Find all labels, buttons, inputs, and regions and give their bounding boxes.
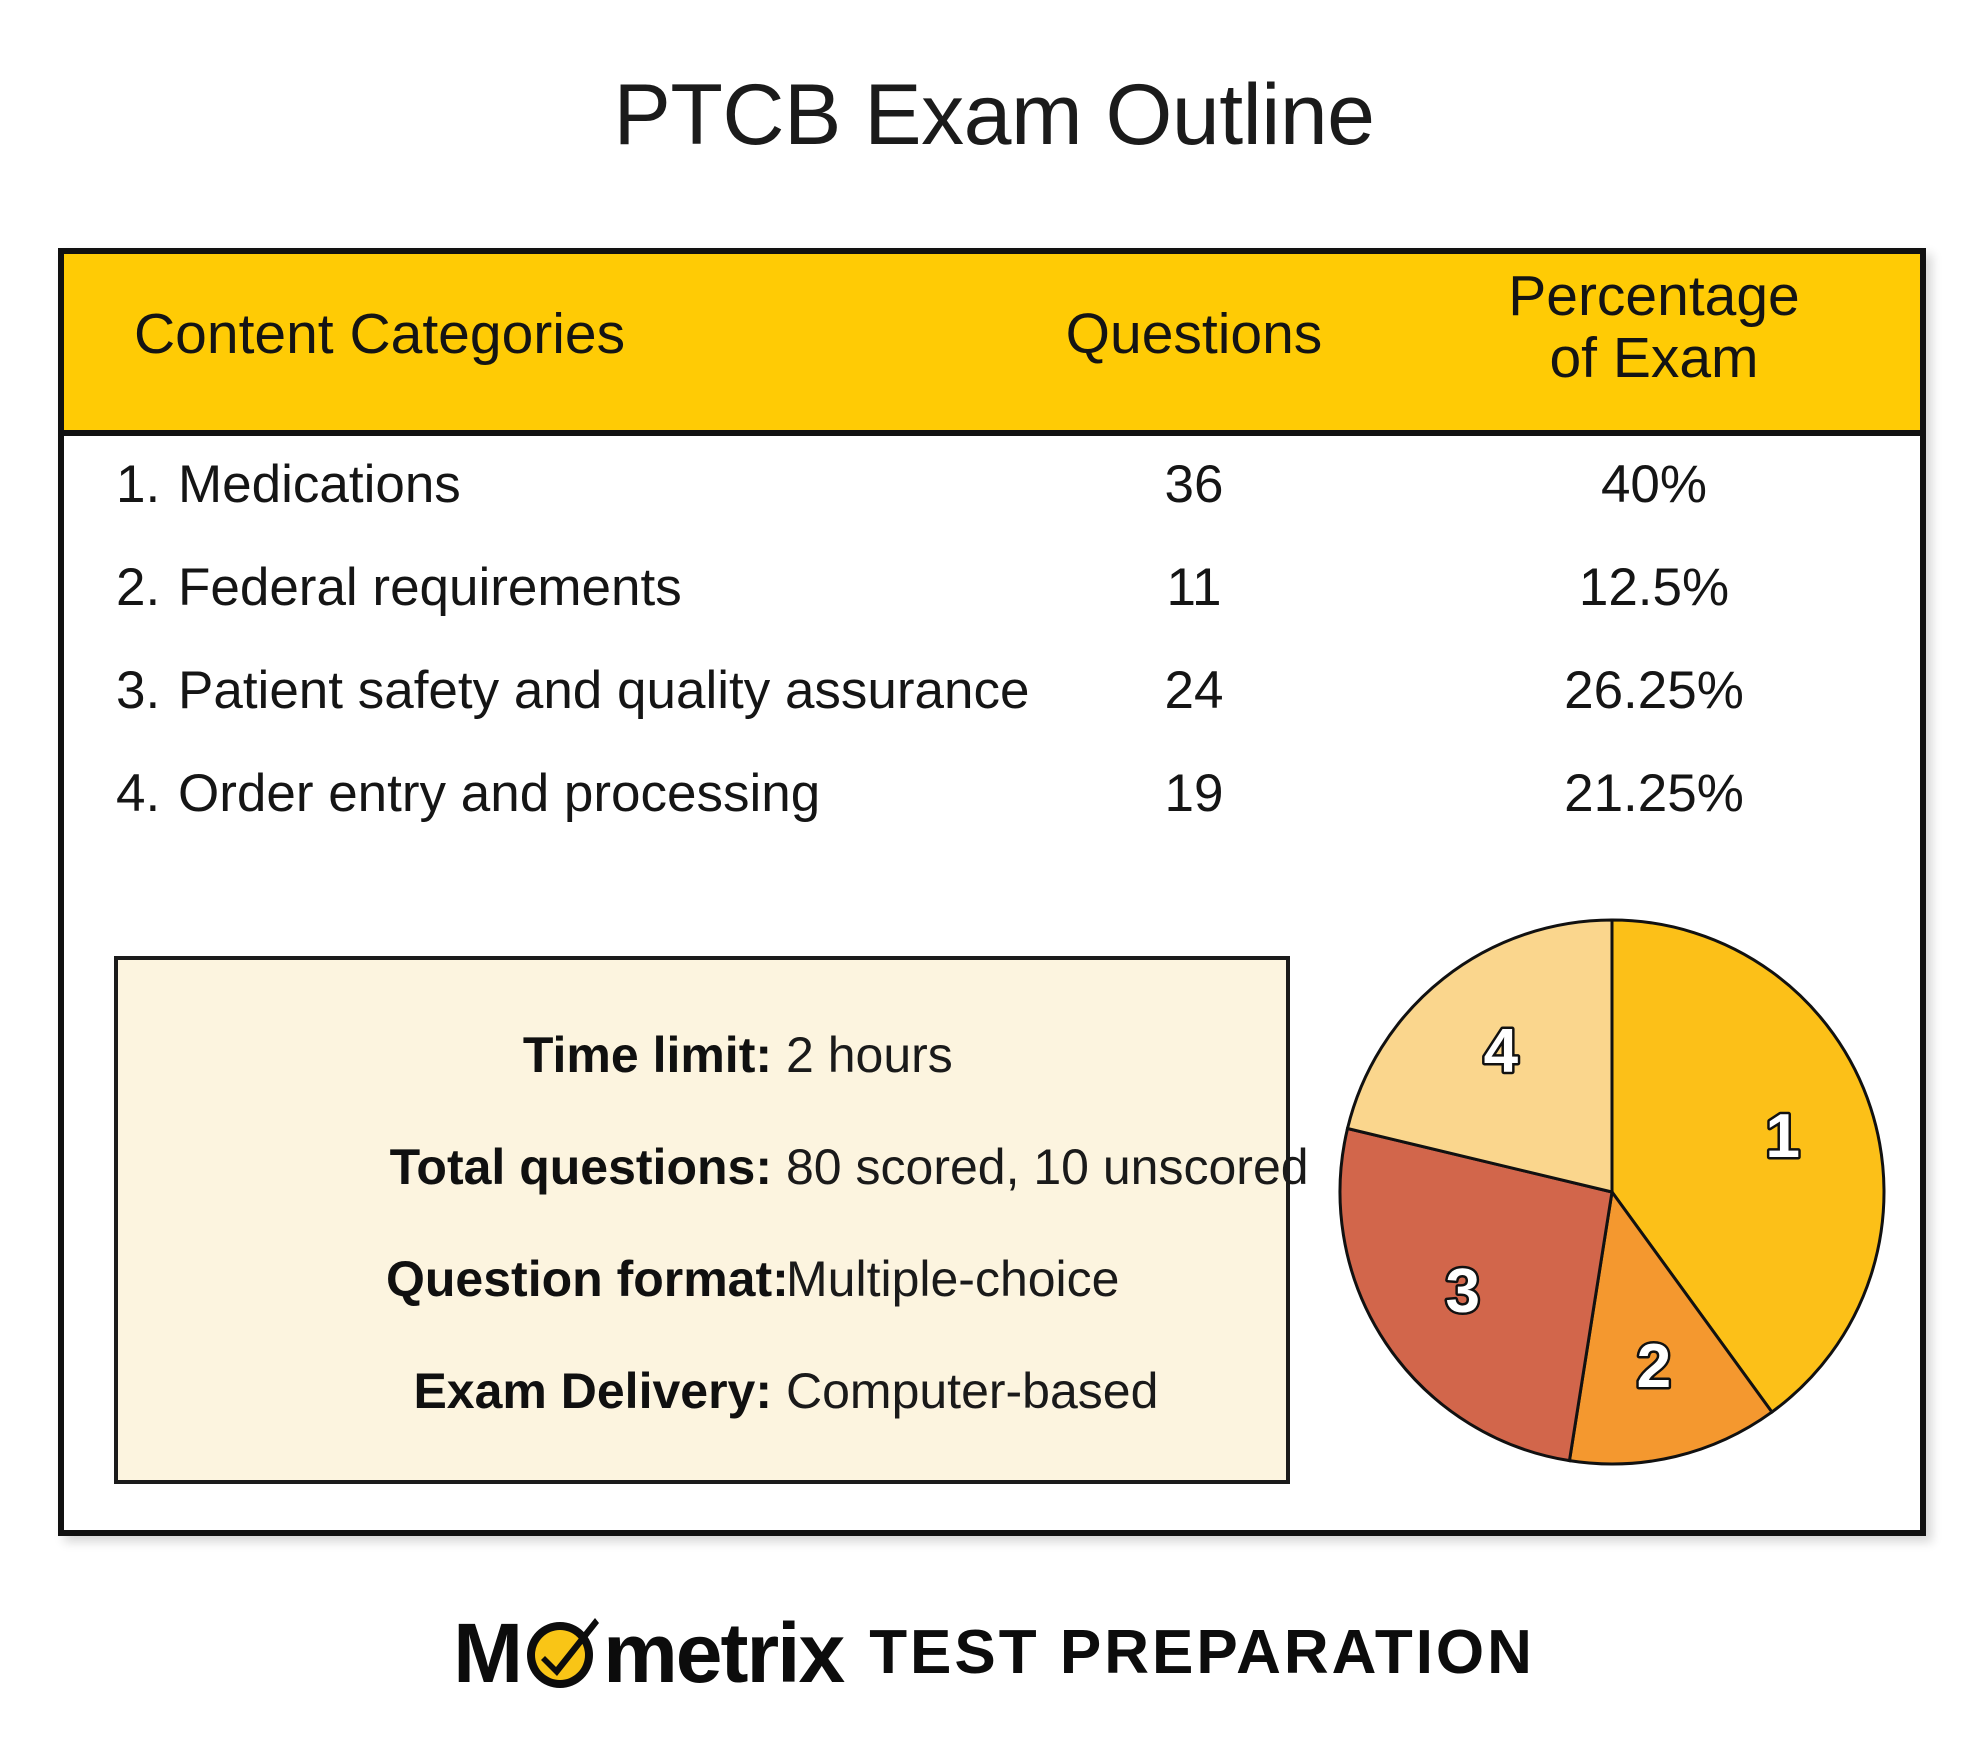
brand-part1: M bbox=[453, 1611, 521, 1695]
row-index: 2. bbox=[116, 561, 178, 614]
row-percentage: 21.25% bbox=[1444, 767, 1864, 820]
row-questions: 36 bbox=[1014, 458, 1374, 511]
column-header-percentage-of-exam: Percentage of Exam bbox=[1444, 266, 1864, 389]
row-label: 1.Medications bbox=[116, 458, 461, 511]
row-percentage: 12.5% bbox=[1444, 561, 1864, 614]
column-header-content-categories: Content Categories bbox=[134, 304, 784, 366]
column-header-percentage-line1: Percentage bbox=[1444, 266, 1864, 328]
detail-row-total-questions: Total questions:80 scored, 10 unscored bbox=[118, 1142, 1246, 1192]
pie-slice-label: 4 bbox=[1484, 1017, 1519, 1086]
pie-slice-label: 2 bbox=[1637, 1332, 1671, 1401]
detail-key: Exam Delivery: bbox=[386, 1366, 786, 1416]
brand-tagline: TEST PREPARATION bbox=[869, 1622, 1535, 1684]
table-body: 1.Medications 36 40% 2.Federal requireme… bbox=[64, 436, 1920, 848]
table-row: 1.Medications 36 40% bbox=[64, 436, 1920, 539]
detail-value: Multiple-choice bbox=[786, 1251, 1119, 1307]
column-header-questions: Questions bbox=[1014, 304, 1374, 366]
table-row: 3.Patient safety and quality assurance 2… bbox=[64, 642, 1920, 745]
pie-chart-svg: 1234 bbox=[1332, 912, 1892, 1472]
row-questions: 24 bbox=[1014, 664, 1374, 717]
row-label: 3.Patient safety and quality assurance bbox=[116, 664, 1029, 717]
row-index: 4. bbox=[116, 767, 178, 820]
detail-row-question-format: Question format:Multiple-choice bbox=[118, 1254, 1246, 1304]
row-label: 4.Order entry and processing bbox=[116, 767, 820, 820]
row-questions: 19 bbox=[1014, 767, 1374, 820]
page-title: PTCB Exam Outline bbox=[0, 72, 1988, 158]
brand-part2: metrix bbox=[603, 1611, 843, 1695]
exam-percentage-pie-chart: 1234 bbox=[1332, 912, 1892, 1472]
row-label-text: Patient safety and quality assurance bbox=[178, 661, 1029, 720]
detail-key: Total questions: bbox=[386, 1142, 786, 1192]
detail-key: Question format: bbox=[386, 1254, 786, 1304]
exam-outline-card: Content Categories Questions Percentage … bbox=[58, 248, 1926, 1536]
exam-details-box: Time limit:2 hours Total questions:80 sc… bbox=[114, 956, 1290, 1484]
detail-value: Computer-based bbox=[786, 1363, 1158, 1419]
row-index: 1. bbox=[116, 458, 178, 511]
detail-value: 2 hours bbox=[786, 1027, 953, 1083]
detail-row-time-limit: Time limit:2 hours bbox=[118, 1030, 1246, 1080]
row-percentage: 40% bbox=[1444, 458, 1864, 511]
pie-slice-label: 1 bbox=[1765, 1102, 1799, 1171]
row-label: 2.Federal requirements bbox=[116, 561, 682, 614]
row-label-text: Order entry and processing bbox=[178, 764, 820, 823]
row-questions: 11 bbox=[1014, 561, 1374, 614]
row-label-text: Medications bbox=[178, 455, 461, 514]
detail-key: Time limit: bbox=[386, 1030, 786, 1080]
column-header-percentage-line2: of Exam bbox=[1444, 328, 1864, 390]
brand-wordmark: M metrix bbox=[453, 1611, 843, 1695]
pie-slice-label: 3 bbox=[1445, 1257, 1479, 1326]
table-row: 2.Federal requirements 11 12.5% bbox=[64, 539, 1920, 642]
detail-row-exam-delivery: Exam Delivery:Computer-based bbox=[118, 1366, 1246, 1416]
footer-branding: M metrix TEST PREPARATION bbox=[0, 1588, 1988, 1718]
check-circle-icon bbox=[523, 1614, 601, 1692]
detail-value: 80 scored, 10 unscored bbox=[786, 1139, 1309, 1195]
table-header-row: Content Categories Questions Percentage … bbox=[64, 254, 1920, 436]
row-percentage: 26.25% bbox=[1444, 664, 1864, 717]
row-label-text: Federal requirements bbox=[178, 558, 682, 617]
table-row: 4.Order entry and processing 19 21.25% bbox=[64, 745, 1920, 848]
mometrix-logo: M metrix TEST PREPARATION bbox=[453, 1611, 1535, 1695]
row-index: 3. bbox=[116, 664, 178, 717]
